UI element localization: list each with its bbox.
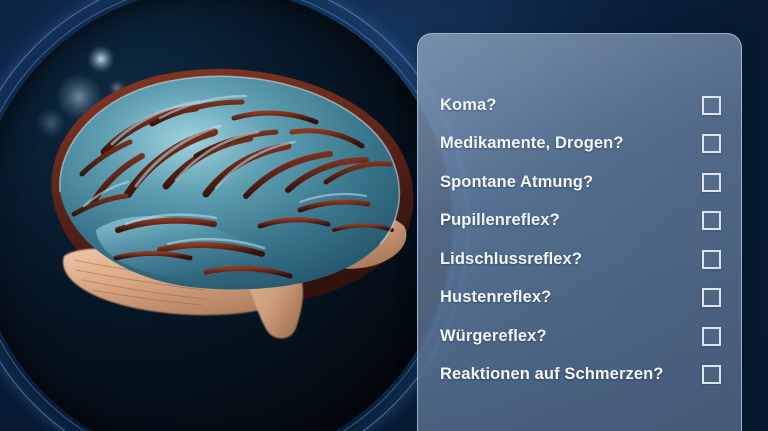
checkbox[interactable] (702, 327, 721, 346)
checkbox[interactable] (702, 250, 721, 269)
checklist-item-label: Würgereflex? (440, 327, 547, 346)
checklist-row[interactable]: Würgereflex? (440, 317, 721, 356)
checklist-rows: Koma?Medikamente, Drogen?Spontane Atmung… (440, 86, 721, 394)
checkbox[interactable] (702, 96, 721, 115)
checklist-row[interactable]: Hustenreflex? (440, 279, 721, 318)
checklist-row[interactable]: Lidschlussreflex? (440, 240, 721, 279)
checklist-item-label: Koma? (440, 96, 496, 115)
checklist-row[interactable]: Spontane Atmung? (440, 163, 721, 202)
checkbox[interactable] (702, 365, 721, 384)
checkbox[interactable] (702, 173, 721, 192)
checkbox[interactable] (702, 288, 721, 307)
brain-illustration (0, 44, 450, 344)
checklist-item-label: Pupillenreflex? (440, 211, 560, 230)
checklist-item-label: Lidschlussreflex? (440, 250, 582, 269)
brain-svg (0, 44, 450, 344)
checklist-row[interactable]: Koma? (440, 86, 721, 125)
checklist-row[interactable]: Medikamente, Drogen? (440, 125, 721, 164)
brain-disc (0, 0, 468, 431)
checklist-row[interactable]: Pupillenreflex? (440, 202, 721, 241)
checkbox[interactable] (702, 134, 721, 153)
checklist-item-label: Medikamente, Drogen? (440, 134, 624, 153)
checklist-item-label: Hustenreflex? (440, 288, 551, 307)
checklist-item-label: Spontane Atmung? (440, 173, 593, 192)
checkbox[interactable] (702, 211, 721, 230)
checklist-row[interactable]: Reaktionen auf Schmerzen? (440, 356, 721, 395)
checklist-item-label: Reaktionen auf Schmerzen? (440, 365, 663, 384)
slide-stage: Koma?Medikamente, Drogen?Spontane Atmung… (0, 0, 768, 431)
checklist-panel: Koma?Medikamente, Drogen?Spontane Atmung… (417, 33, 742, 431)
